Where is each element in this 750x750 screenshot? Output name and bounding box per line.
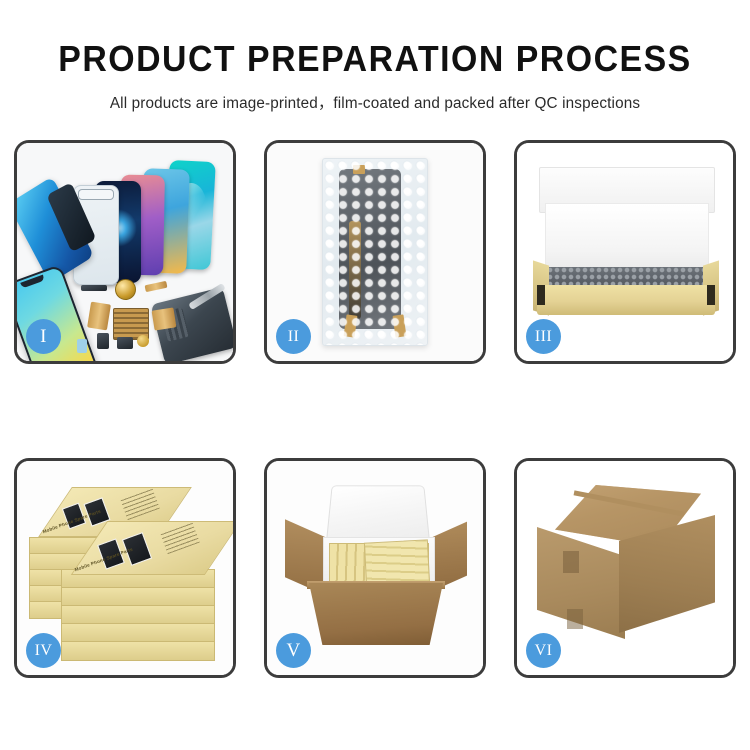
carton-tab-lower-icon <box>567 609 583 629</box>
speaker-component-icon <box>115 279 136 300</box>
panel-boxed-stack[interactable]: Mobile Phone Spare Parts Mobile Phone Sp… <box>14 458 236 678</box>
small-part-2-icon <box>117 337 133 349</box>
page-title: PRODUCT PREPARATION PROCESS <box>23 0 728 77</box>
camera-module-icon <box>137 335 149 347</box>
panel-badge-1: I <box>26 319 61 354</box>
tape-bottom-right-icon <box>393 314 407 337</box>
panel-badge-2: II <box>276 319 311 354</box>
page-subtitle: All products are image-printed，film-coat… <box>6 77 745 113</box>
panel-badge-6: VI <box>526 633 561 668</box>
stack-box-front <box>61 641 215 661</box>
carton-front-icon <box>309 583 443 645</box>
box-corner-tab-right-icon <box>707 285 715 305</box>
process-panel-grid: I II <box>14 140 736 680</box>
white-foam-icon <box>545 203 709 277</box>
sim-tray-icon <box>77 339 87 353</box>
screen-flex-cable-icon <box>349 221 361 319</box>
carton-tab-upper-icon <box>563 551 579 573</box>
stack-box-front <box>61 587 215 607</box>
foam-lid-icon <box>326 485 430 541</box>
panel-badge-3: III <box>526 319 561 354</box>
header: PRODUCT PREPARATION PROCESS All products… <box>0 0 750 113</box>
stack-box-front <box>61 605 215 625</box>
panel-badge-4: IV <box>26 633 61 668</box>
yellow-boxes-row-2-icon <box>364 539 430 586</box>
box-front-panel-icon <box>537 285 715 315</box>
box-stack-icon: Mobile Phone Spare Parts Mobile Phone Sp… <box>27 477 223 659</box>
flex-strip-2-icon <box>152 307 177 330</box>
stack-box-front <box>61 623 215 643</box>
flex-strip-icon <box>87 302 111 331</box>
box-corner-tab-left-icon <box>537 285 545 305</box>
panel-badge-5: V <box>276 633 311 668</box>
panel-foam-box[interactable]: III <box>514 140 736 364</box>
tape-bottom-left-icon <box>344 314 358 337</box>
page-root: PRODUCT PREPARATION PROCESS All products… <box>0 0 750 750</box>
panel-raw-products[interactable]: I <box>14 140 236 364</box>
component-bar-icon <box>81 285 107 291</box>
panel-sealed-carton[interactable]: VI <box>514 458 736 678</box>
small-part-icon <box>97 333 109 349</box>
bubble-wrap-package-icon <box>322 158 428 346</box>
open-kraft-box-icon <box>533 167 719 319</box>
sealed-carton-icon <box>537 485 715 645</box>
open-carton-icon <box>285 483 467 653</box>
tape-top-icon <box>353 165 365 174</box>
panel-bubble-wrapped[interactable]: II <box>264 140 486 364</box>
panel-carton-packing[interactable]: V <box>264 458 486 678</box>
